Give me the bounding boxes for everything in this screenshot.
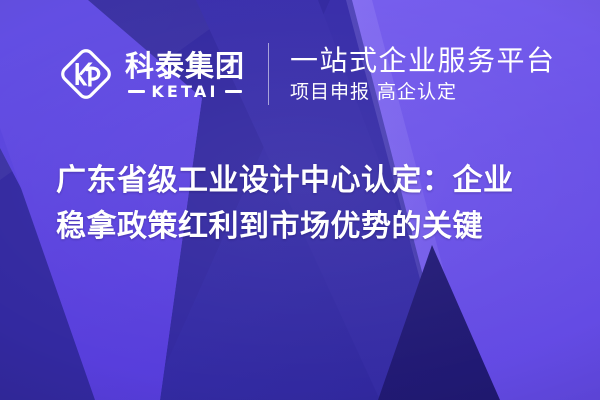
banner-header: 科泰集团 KETAI 一站式企业服务平台 项目申报 高企认定 — [0, 32, 600, 116]
vertical-divider-icon — [268, 43, 269, 105]
tagline-primary: 一站式企业服务平台 — [290, 44, 556, 77]
brand-wordmark: 科泰集团 KETAI — [125, 50, 245, 100]
headline-block: 广东省级工业设计中心认定：企业 稳拿政策红利到市场优势的关键 — [0, 158, 600, 250]
tagline-secondary: 项目申报 高企认定 — [290, 80, 556, 104]
dash-left-icon — [128, 90, 145, 93]
ketai-diamond-monogram-icon — [57, 45, 115, 103]
brand-name-cn: 科泰集团 — [125, 50, 245, 82]
dash-right-icon — [225, 90, 242, 93]
headline-line-2: 稳拿政策红利到市场优势的关键 — [56, 204, 544, 250]
tagline-block: 一站式企业服务平台 项目申报 高企认定 — [290, 44, 556, 104]
brand-name-en-row: KETAI — [125, 84, 245, 100]
brand-logo[interactable]: 科泰集团 KETAI — [57, 45, 245, 103]
brand-name-en: KETAI — [151, 84, 218, 100]
promo-banner: 科泰集团 KETAI 一站式企业服务平台 项目申报 高企认定 广东省级工业设计中… — [0, 0, 600, 400]
headline-line-1: 广东省级工业设计中心认定：企业 — [56, 158, 544, 204]
